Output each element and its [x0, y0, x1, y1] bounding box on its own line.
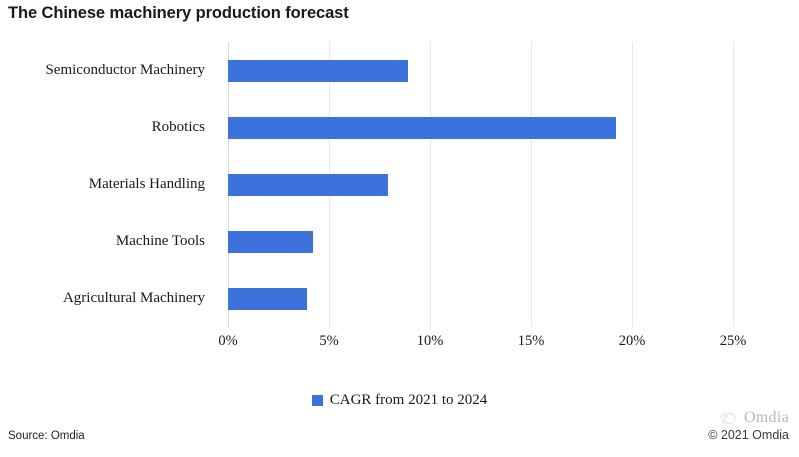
chart-legend: CAGR from 2021 to 2024 — [0, 392, 799, 409]
chart-title: The Chinese machinery production forecas… — [8, 4, 349, 23]
gridline-25 — [733, 42, 734, 327]
bar-materials-handling[interactable] — [228, 174, 388, 196]
bar-row-semiconductor-machinery — [228, 42, 733, 99]
bar-row-agricultural-machinery — [228, 270, 733, 327]
x-axis-tick-5: 5% — [319, 333, 338, 350]
y-axis-label-robotics: Robotics — [0, 99, 214, 156]
bar-row-robotics — [228, 99, 733, 156]
bar-row-materials-handling — [228, 156, 733, 213]
chart-container: The Chinese machinery production forecas… — [0, 0, 799, 457]
bar-robotics[interactable] — [228, 117, 616, 139]
x-axis-tick-10: 10% — [417, 333, 444, 350]
brand-logo: Omdia — [609, 408, 789, 428]
x-axis-tick-0: 0% — [218, 333, 237, 350]
x-axis-tick-15: 15% — [518, 333, 545, 350]
legend-label-cagr: CAGR from 2021 to 2024 — [330, 392, 488, 409]
omdia-swirl-icon — [719, 410, 739, 427]
bar-agricultural-machinery[interactable] — [228, 288, 307, 310]
copyright-text: © 2021 Omdia — [609, 428, 789, 442]
bar-row-machine-tools — [228, 213, 733, 270]
x-axis-tick-20: 20% — [619, 333, 646, 350]
y-axis-label-materials-handling: Materials Handling — [0, 156, 214, 213]
y-axis-category-labels: Semiconductor Machinery Robotics Materia… — [0, 42, 214, 327]
bar-semiconductor-machinery[interactable] — [228, 60, 408, 82]
y-axis-label-machine-tools: Machine Tools — [0, 213, 214, 270]
bar-machine-tools[interactable] — [228, 231, 313, 253]
y-axis-label-agricultural-machinery: Agricultural Machinery — [0, 270, 214, 327]
brand-block: Omdia © 2021 Omdia — [609, 408, 789, 442]
y-axis-label-semiconductor-machinery: Semiconductor Machinery — [0, 42, 214, 99]
plot-area — [228, 42, 733, 327]
legend-swatch-icon — [312, 395, 323, 406]
brand-name: Omdia — [744, 409, 789, 427]
source-note: Source: Omdia — [8, 430, 85, 442]
x-axis-tick-25: 25% — [720, 333, 747, 350]
